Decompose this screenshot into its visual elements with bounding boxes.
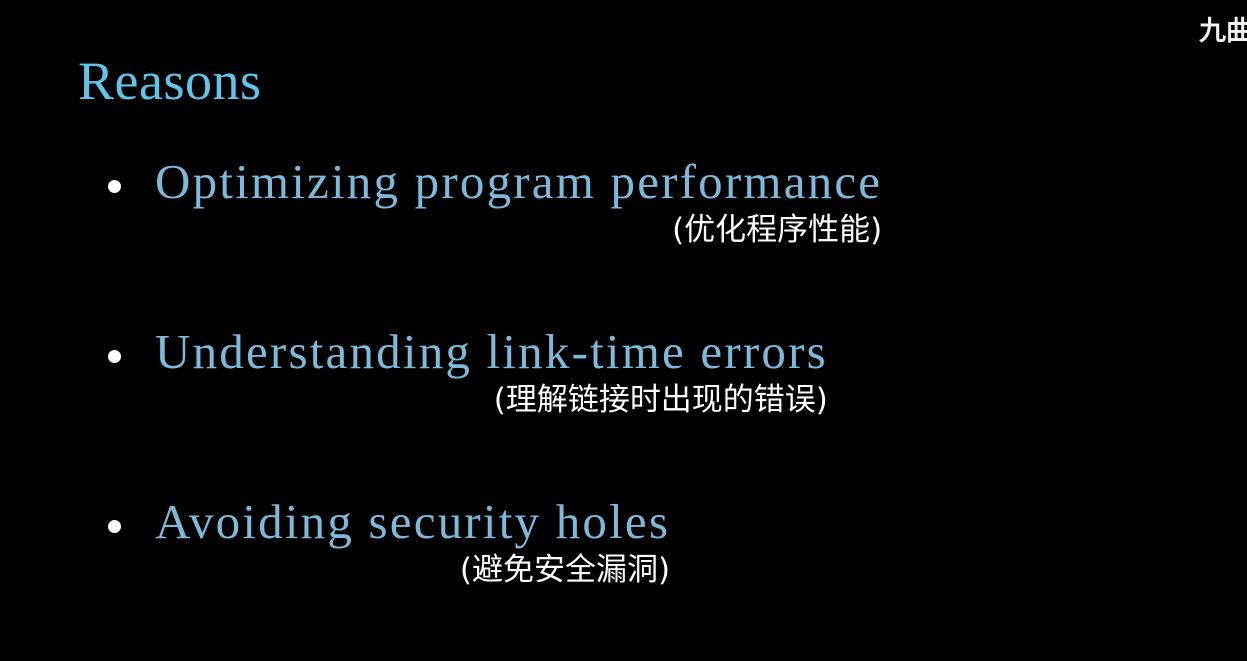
bullet-dot-icon <box>108 180 121 193</box>
bullet-dot-icon <box>108 520 121 533</box>
list-item: Avoiding security holes (避免安全漏洞) <box>108 496 670 589</box>
bullet-translation: (优化程序性能) <box>108 213 882 249</box>
list-item: Understanding link-time errors (理解链接时出现的… <box>108 326 828 419</box>
bullet-translation: (理解链接时出现的错误) <box>108 383 828 419</box>
bullet-dot-icon <box>108 350 121 363</box>
presentation-slide: 九曲 Reasons Optimizing program performanc… <box>0 0 1247 661</box>
bullet-text: Optimizing program performance <box>155 156 882 209</box>
bullet-translation: (避免安全漏洞) <box>108 553 670 589</box>
bullet-list: Optimizing program performance (优化程序性能) … <box>0 0 1247 661</box>
bullet-row: Understanding link-time errors <box>108 326 828 379</box>
bullet-text: Avoiding security holes <box>155 496 670 549</box>
bullet-row: Avoiding security holes <box>108 496 670 549</box>
bullet-text: Understanding link-time errors <box>155 326 828 379</box>
list-item: Optimizing program performance (优化程序性能) <box>108 156 882 249</box>
bullet-row: Optimizing program performance <box>108 156 882 209</box>
